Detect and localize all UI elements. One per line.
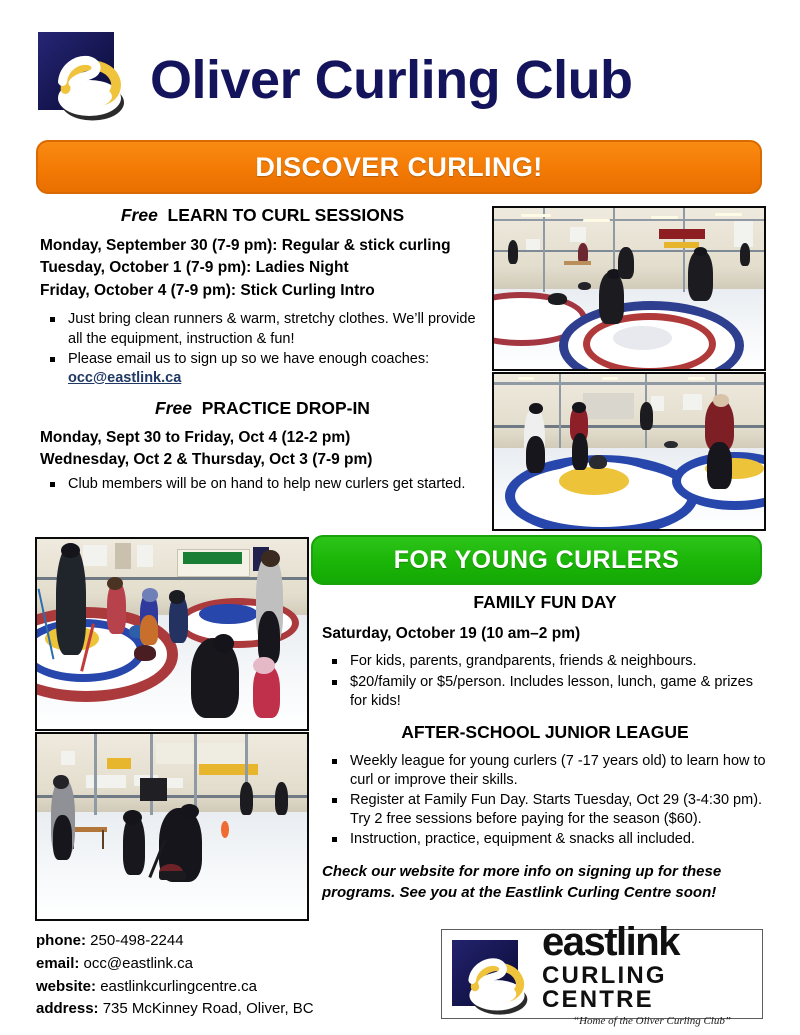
contact-address-value: 735 McKinney Road, Oliver, BC — [103, 1000, 314, 1017]
list-item: Club members will be on hand to help new… — [40, 475, 485, 494]
learn-to-curl-heading-text: LEARN TO CURL SESSIONS — [168, 205, 405, 225]
list-item: $20/family or $5/person. Includes lesson… — [322, 673, 768, 711]
eastlink-logo-text: eastlink CURLING CENTRE “Home of the Oli… — [542, 922, 762, 1027]
list-item: For kids, parents, grandparents, friends… — [322, 652, 768, 671]
eastlink-stone-icon — [450, 936, 536, 1012]
for-young-curlers-banner: FOR YOUNG CURLERS — [311, 535, 762, 585]
signup-email-link[interactable]: occ@eastlink.ca — [68, 370, 181, 386]
contact-website-value[interactable]: eastlinkcurlingcentre.ca — [100, 978, 257, 995]
practice-drop-in-date-2: Wednesday, Oct 2 & Thursday, Oct 3 (7-9 … — [40, 449, 485, 471]
contact-phone-label: phone: — [36, 932, 86, 949]
eastlink-subtitle: CURLING CENTRE — [542, 964, 762, 1012]
contact-address-label: address: — [36, 1000, 99, 1017]
contact-website-label: website: — [36, 978, 96, 995]
practice-drop-in-heading: Free PRACTICE DROP-IN — [40, 398, 485, 419]
learn-to-curl-date-2: Tuesday, October 1 (7-9 pm): Ladies Nigh… — [40, 257, 485, 279]
photo-junior-curler-sweeping — [35, 732, 309, 921]
practice-drop-in-heading-text: PRACTICE DROP-IN — [202, 398, 370, 418]
practice-drop-in-date-1: Monday, Sept 30 to Friday, Oct 4 (12-2 p… — [40, 427, 485, 449]
list-item: Just bring clean runners & warm, stretch… — [40, 310, 485, 348]
family-fun-day-bullets: For kids, parents, grandparents, friends… — [322, 652, 768, 710]
contact-email-value[interactable]: occ@eastlink.ca — [84, 955, 193, 972]
eastlink-tagline: “Home of the Oliver Curling Club” — [542, 1016, 762, 1027]
contact-email: email: occ@eastlink.ca — [36, 953, 426, 976]
contact-website: website: eastlinkcurlingcentre.ca — [36, 976, 426, 999]
family-fun-day-heading: FAMILY FUN DAY — [322, 592, 768, 613]
young-curlers-content: FAMILY FUN DAY Saturday, October 19 (10 … — [322, 592, 768, 904]
family-fun-day-date: Saturday, October 19 (10 am–2 pm) — [322, 623, 768, 645]
closing-note: Check our website for more info on signi… — [322, 862, 768, 903]
footer-contact-block: phone: 250-498-2244 email: occ@eastlink.… — [36, 930, 426, 1021]
learn-to-curl-date-1: Monday, September 30 (7-9 pm): Regular &… — [40, 235, 485, 257]
discover-curling-banner: DISCOVER CURLING! — [36, 140, 762, 194]
learn-to-curl-signup-text: Please email us to sign up so we have en… — [68, 351, 429, 367]
list-item: Instruction, practice, equipment & snack… — [322, 830, 768, 849]
photo-curlers-blue-house — [492, 372, 766, 531]
contact-phone-value: 250-498-2244 — [90, 932, 183, 949]
discover-curling-banner-label: DISCOVER CURLING! — [255, 152, 542, 183]
junior-league-heading: AFTER-SCHOOL JUNIOR LEAGUE — [322, 722, 768, 743]
page-title: Oliver Curling Club — [150, 53, 633, 107]
contact-phone: phone: 250-498-2244 — [36, 930, 426, 953]
page-header: Oliver Curling Club — [36, 24, 766, 136]
contact-address: address: 735 McKinney Road, Oliver, BC — [36, 998, 426, 1021]
practice-drop-in-free-word: Free — [155, 398, 192, 418]
eastlink-curling-centre-logo: eastlink CURLING CENTRE “Home of the Oli… — [441, 929, 763, 1019]
learn-to-curl-dates: Monday, September 30 (7-9 pm): Regular &… — [40, 235, 485, 302]
discover-curling-content: Free LEARN TO CURL SESSIONS Monday, Sept… — [40, 205, 485, 495]
photo-kids-family-curling — [35, 537, 309, 731]
oliver-curling-club-logo-icon — [36, 28, 134, 132]
junior-league-bullets: Weekly league for young curlers (7 -17 y… — [322, 752, 768, 850]
list-item: Please email us to sign up so we have en… — [40, 350, 485, 388]
list-item: Weekly league for young curlers (7 -17 y… — [322, 752, 768, 790]
learn-to-curl-bullets: Just bring clean runners & warm, stretch… — [40, 310, 485, 388]
photo-curling-rink-sheet — [492, 206, 766, 371]
list-item: Register at Family Fun Day. Starts Tuesd… — [322, 791, 768, 829]
learn-to-curl-date-3: Friday, October 4 (7-9 pm): Stick Curlin… — [40, 280, 485, 302]
for-young-curlers-banner-label: FOR YOUNG CURLERS — [394, 546, 680, 575]
learn-to-curl-free-word: Free — [121, 205, 158, 225]
learn-to-curl-heading: Free LEARN TO CURL SESSIONS — [40, 205, 485, 226]
practice-drop-in-bullets: Club members will be on hand to help new… — [40, 475, 485, 494]
eastlink-wordmark: eastlink — [542, 922, 762, 962]
practice-drop-in-dates: Monday, Sept 30 to Friday, Oct 4 (12-2 p… — [40, 427, 485, 472]
contact-email-label: email: — [36, 955, 79, 972]
